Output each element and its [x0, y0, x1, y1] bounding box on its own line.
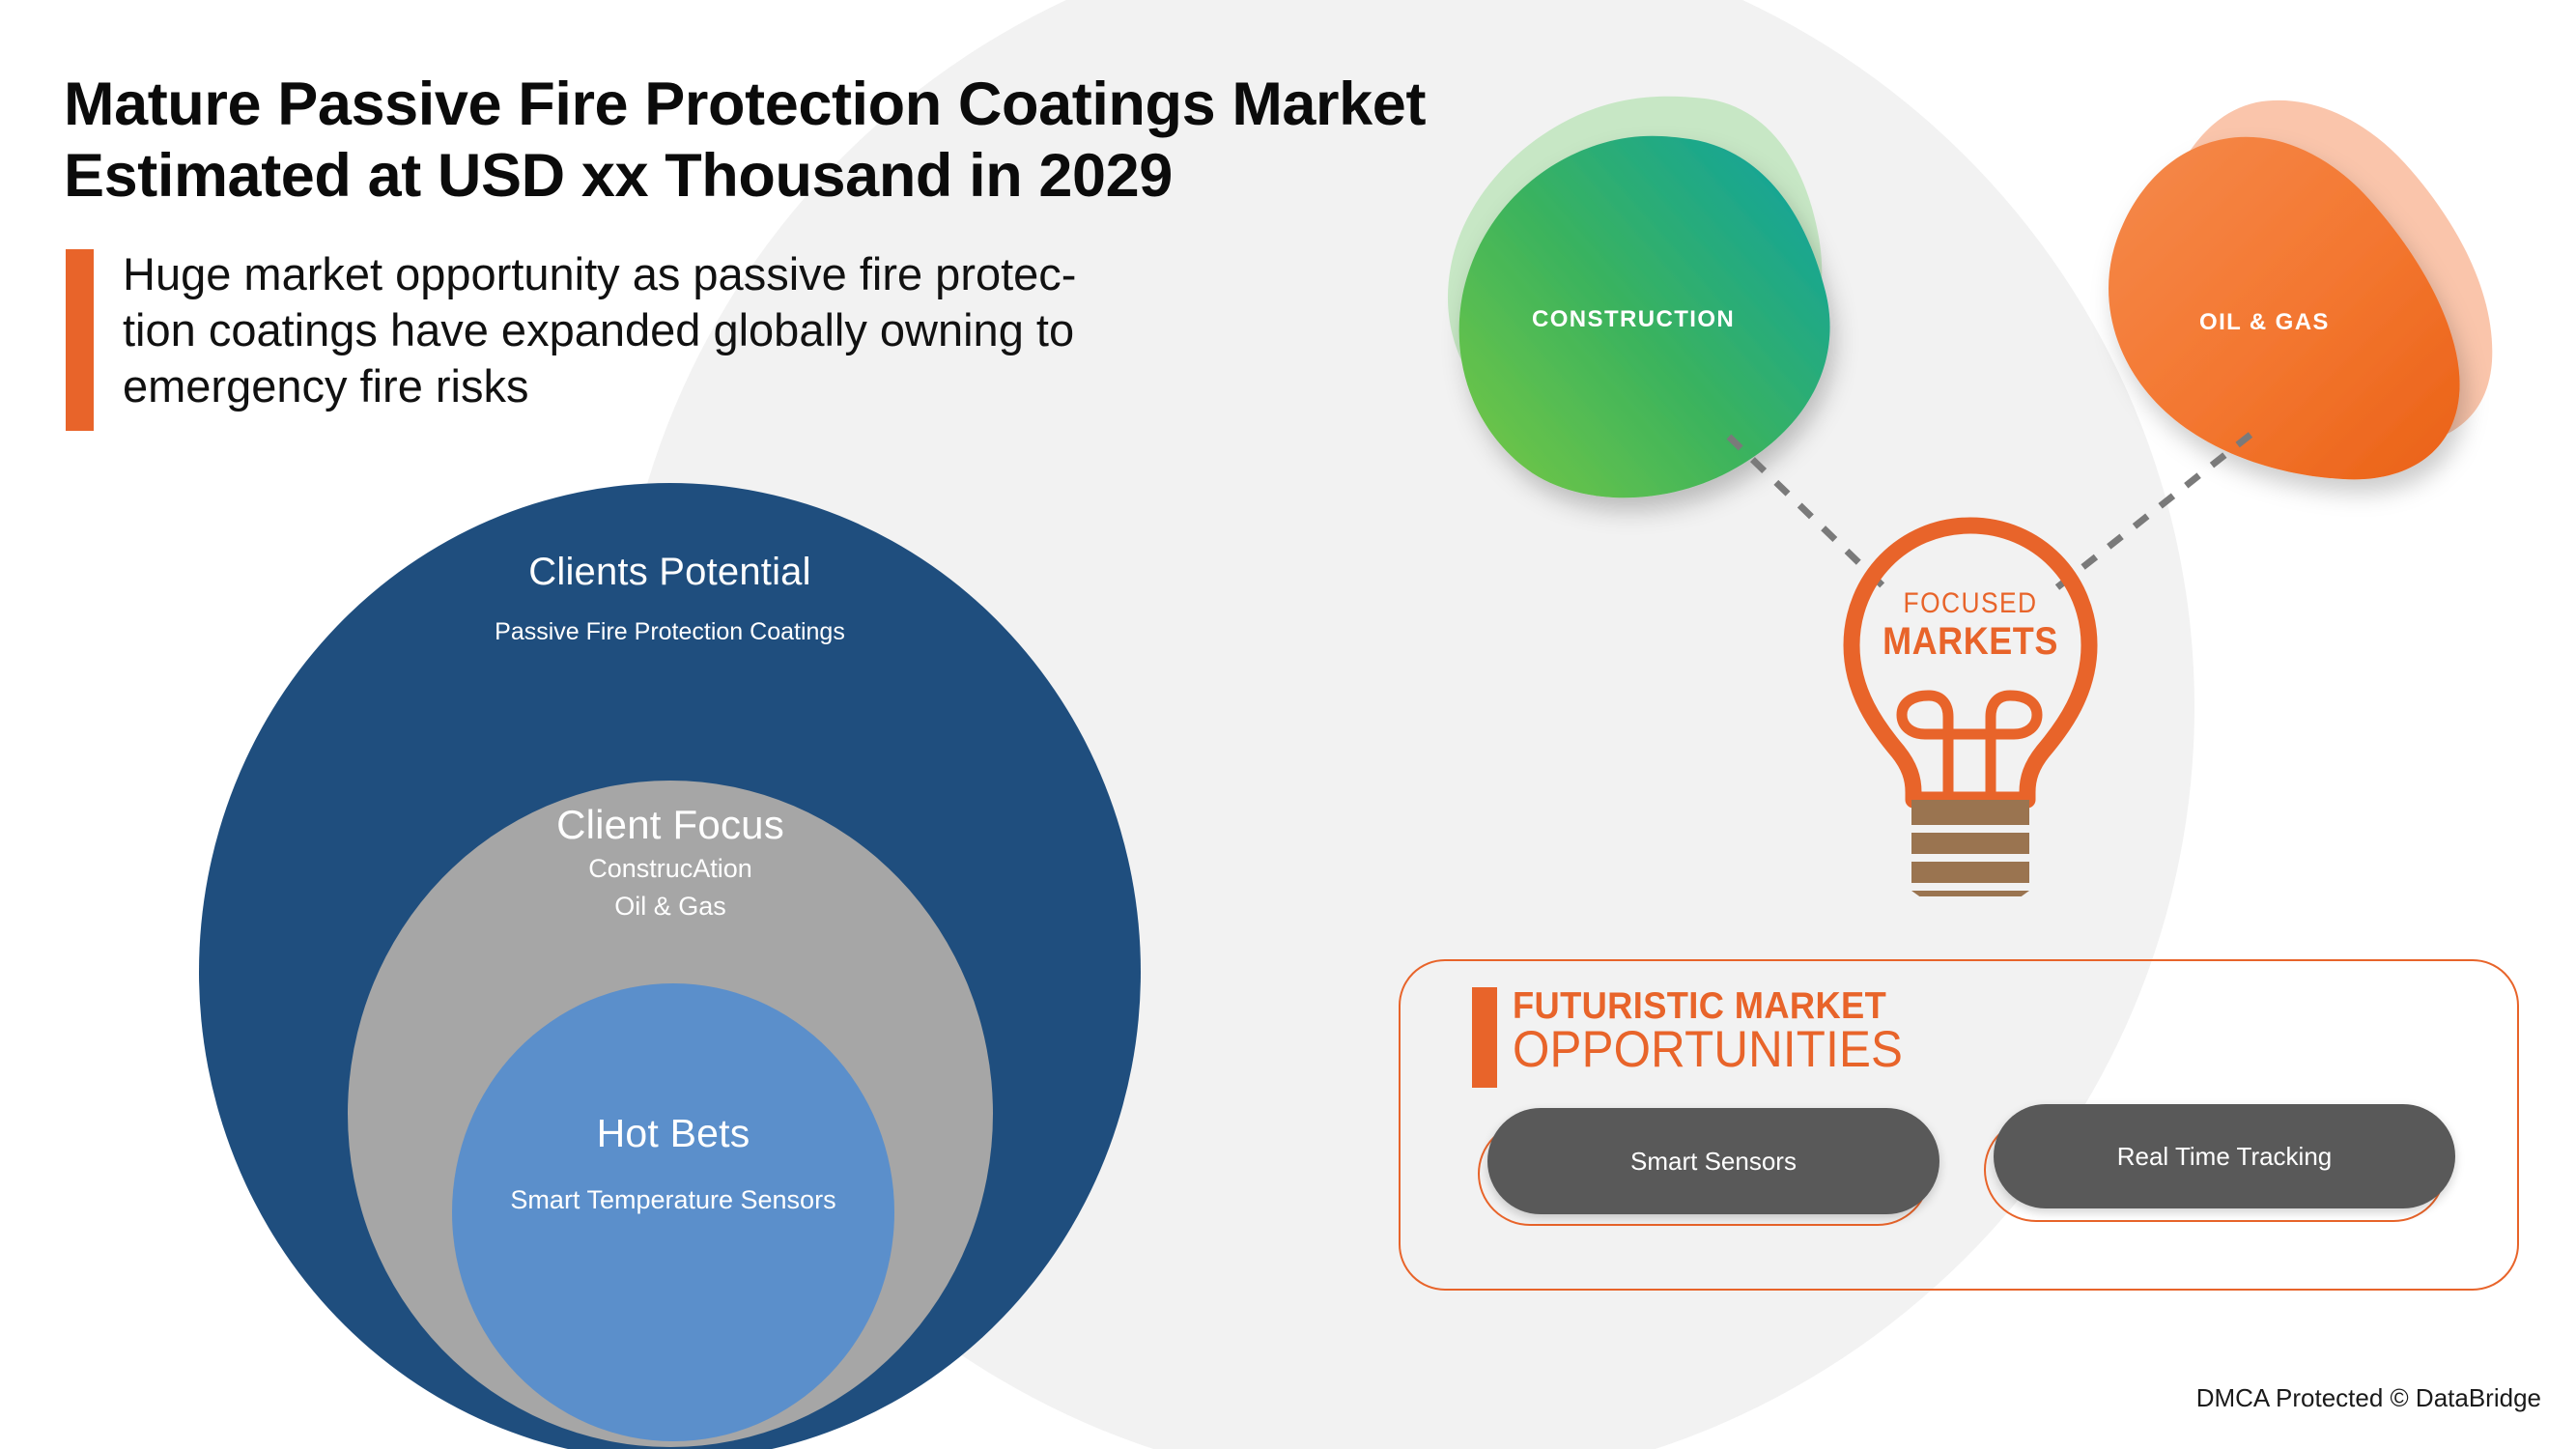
page-title-line-2: Estimated at USD xx Thousand in 2029 — [64, 141, 1648, 213]
copyright-footer: DMCA Protected © DataBridge — [2196, 1383, 2541, 1413]
lightbulb-label-line-1: FOCUSED — [1847, 587, 2093, 620]
page-title: Mature Passive Fire Protection Coatings … — [64, 70, 1648, 212]
circle-outer-labels: Clients Potential Passive Fire Protectio… — [199, 551, 1141, 646]
circle-middle-subtitle-1: ConstrucAtion — [348, 852, 993, 886]
segment-label-construction: CONSTRUCTION — [1532, 306, 1735, 333]
circle-outer-title: Clients Potential — [199, 551, 1141, 594]
lightbulb-label-line-2: MARKETS — [1845, 620, 2097, 664]
circle-inner-title: Hot Bets — [452, 1111, 894, 1156]
subheadline: Huge market opportunity as passive fire … — [66, 246, 1076, 431]
segment-label-oil-gas: OIL & GAS — [2199, 309, 2330, 336]
lightbulb-icon[interactable] — [1830, 510, 2110, 901]
panel-title-line-2: OPPORTUNITIES — [1513, 1024, 1903, 1075]
pill-label-1[interactable]: Smart Sensors — [1487, 1108, 1939, 1214]
lightbulb-label: FOCUSED MARKETS — [1830, 587, 2110, 664]
circle-middle-labels: Client Focus ConstrucAtion Oil & Gas — [348, 802, 993, 923]
slide-canvas: Mature Passive Fire Protection Coatings … — [0, 0, 2576, 1449]
subheadline-line-2: tion coatings have expanded globally own… — [123, 302, 1076, 358]
pill-label-2[interactable]: Real Time Tracking — [1994, 1104, 2455, 1208]
lightbulb-base — [1911, 800, 2029, 896]
circle-outer-subtitle: Passive Fire Protection Coatings — [199, 618, 1141, 646]
panel-accent-bar — [1472, 987, 1497, 1088]
subheadline-text: Huge market opportunity as passive fire … — [123, 246, 1076, 431]
subheadline-line-3: emergency fire risks — [123, 358, 1076, 414]
circle-middle-title: Client Focus — [348, 802, 993, 848]
circle-inner-subtitle: Smart Temperature Sensors — [452, 1185, 894, 1215]
page-title-line-1: Mature Passive Fire Protection Coatings … — [64, 70, 1648, 141]
subheadline-line-1: Huge market opportunity as passive fire … — [123, 246, 1076, 302]
accent-bar — [66, 249, 94, 431]
circle-inner-labels: Hot Bets Smart Temperature Sensors — [452, 1111, 894, 1215]
panel-heading: FUTURISTIC MARKET OPPORTUNITIES — [1472, 987, 1933, 1088]
lightbulb-filament — [1902, 696, 2037, 796]
circle-middle-subtitle-2: Oil & Gas — [348, 890, 993, 923]
